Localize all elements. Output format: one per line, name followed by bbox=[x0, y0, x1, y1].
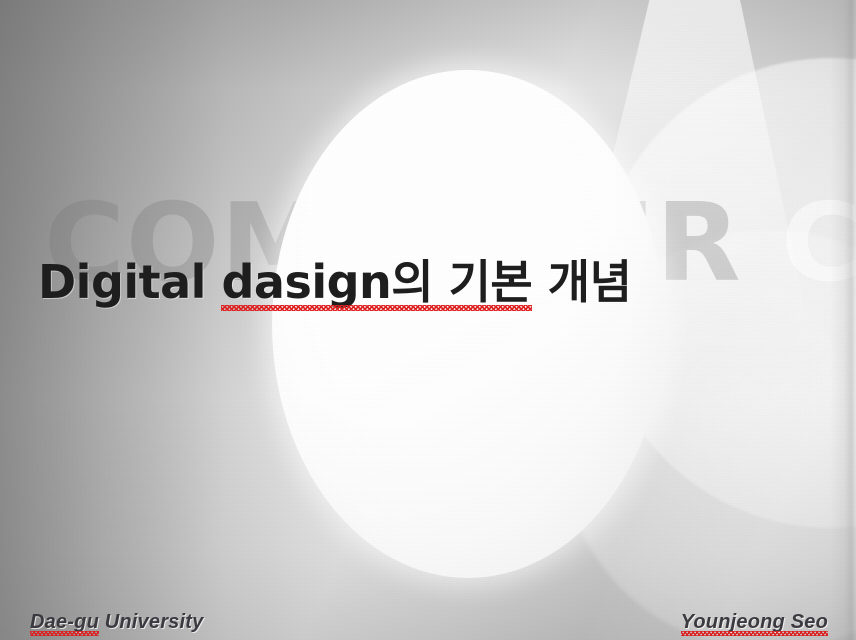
slide-title-misspelled-segment: dasign의 기본 bbox=[221, 258, 532, 308]
footer-institution-misspelled-text: Dae-gu bbox=[30, 611, 99, 633]
decorative-sphere bbox=[272, 70, 664, 578]
slide-title-prefix: Digital bbox=[38, 255, 221, 309]
presentation-slide: COMPUTER CAD Digital dasign의 기본 개념 Dae-g… bbox=[0, 0, 856, 640]
slide-title[interactable]: Digital dasign의 기본 개념 bbox=[38, 258, 631, 308]
slide-right-edge-highlight bbox=[830, 0, 856, 640]
footer-author-misspelled-text: Younjeong Seo bbox=[681, 611, 828, 633]
footer-institution-rest: University bbox=[99, 611, 203, 633]
spellcheck-squiggle-icon bbox=[681, 631, 828, 636]
footer-author[interactable]: Younjeong Seo bbox=[681, 611, 828, 634]
slide-title-suffix: 개념 bbox=[532, 255, 631, 309]
spellcheck-squiggle-icon bbox=[221, 305, 532, 311]
spellcheck-squiggle-icon bbox=[30, 631, 99, 636]
slide-footer: Dae-gu University Younjeong Seo bbox=[0, 592, 856, 636]
slide-background-left-shadow bbox=[0, 0, 300, 640]
slide-title-misspelled-text: dasign의 기본 bbox=[221, 255, 532, 309]
footer-author-misspelled-segment: Younjeong Seo bbox=[681, 611, 828, 634]
footer-institution[interactable]: Dae-gu University bbox=[30, 611, 203, 634]
footer-institution-misspelled-segment: Dae-gu bbox=[30, 611, 99, 634]
